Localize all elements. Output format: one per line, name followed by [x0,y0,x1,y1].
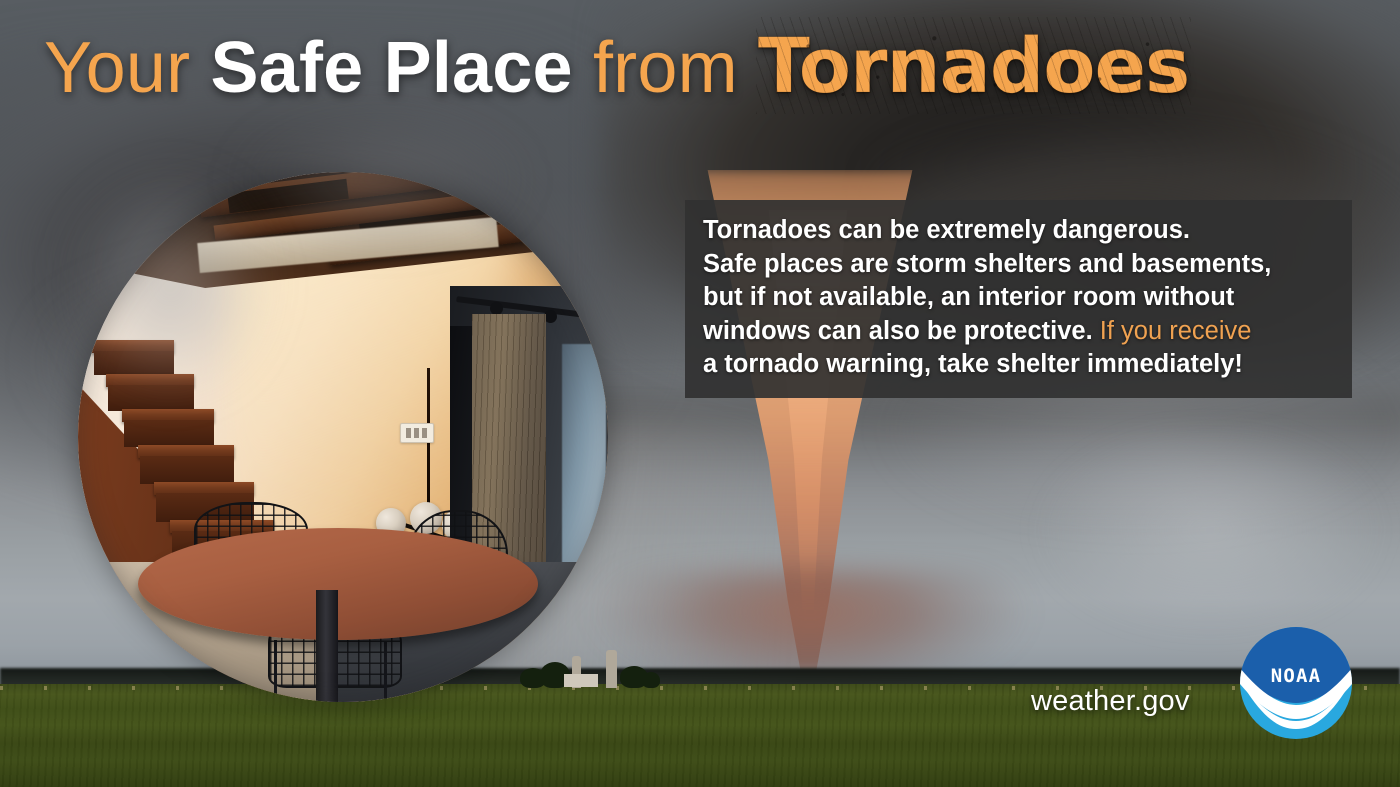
round-table [138,528,538,640]
message-line-4-orange: If you receive [1100,317,1252,345]
title-word-from: from [593,28,738,108]
safety-message-box: Tornadoes can be extremely dangerous. Sa… [685,200,1352,398]
message-line-2: Safe places are storm shelters and basem… [703,248,1334,282]
poster: Your Safe Place from Tornadoes Tornadoes… [0,0,1400,787]
title-word-safeplace: Safe Place [211,28,573,108]
message-line-5: a tornado warning, take shelter immediat… [703,348,1334,382]
page-title: Your Safe Place from Tornadoes [44,28,1189,104]
message-line-1: Tornadoes can be extremely dangerous. [703,214,1334,248]
noaa-logo-text: NOAA [1271,665,1322,687]
weather-gov-url[interactable]: weather.gov [1031,685,1190,718]
noaa-logo-icon: NOAA [1240,627,1352,739]
message-line-4: windows can also be protective. If you r… [703,315,1334,349]
message-line-4-white: windows can also be protective. [703,317,1093,345]
title-word-tornadoes: Tornadoes [758,21,1189,110]
noaa-logo[interactable]: NOAA [1240,627,1352,739]
table-pedestal [316,590,338,702]
message-line-3: but if not available, an interior room w… [703,281,1334,315]
title-word-your: Your [44,28,190,108]
smoke-top [170,90,590,270]
wall-outlet [400,423,434,443]
